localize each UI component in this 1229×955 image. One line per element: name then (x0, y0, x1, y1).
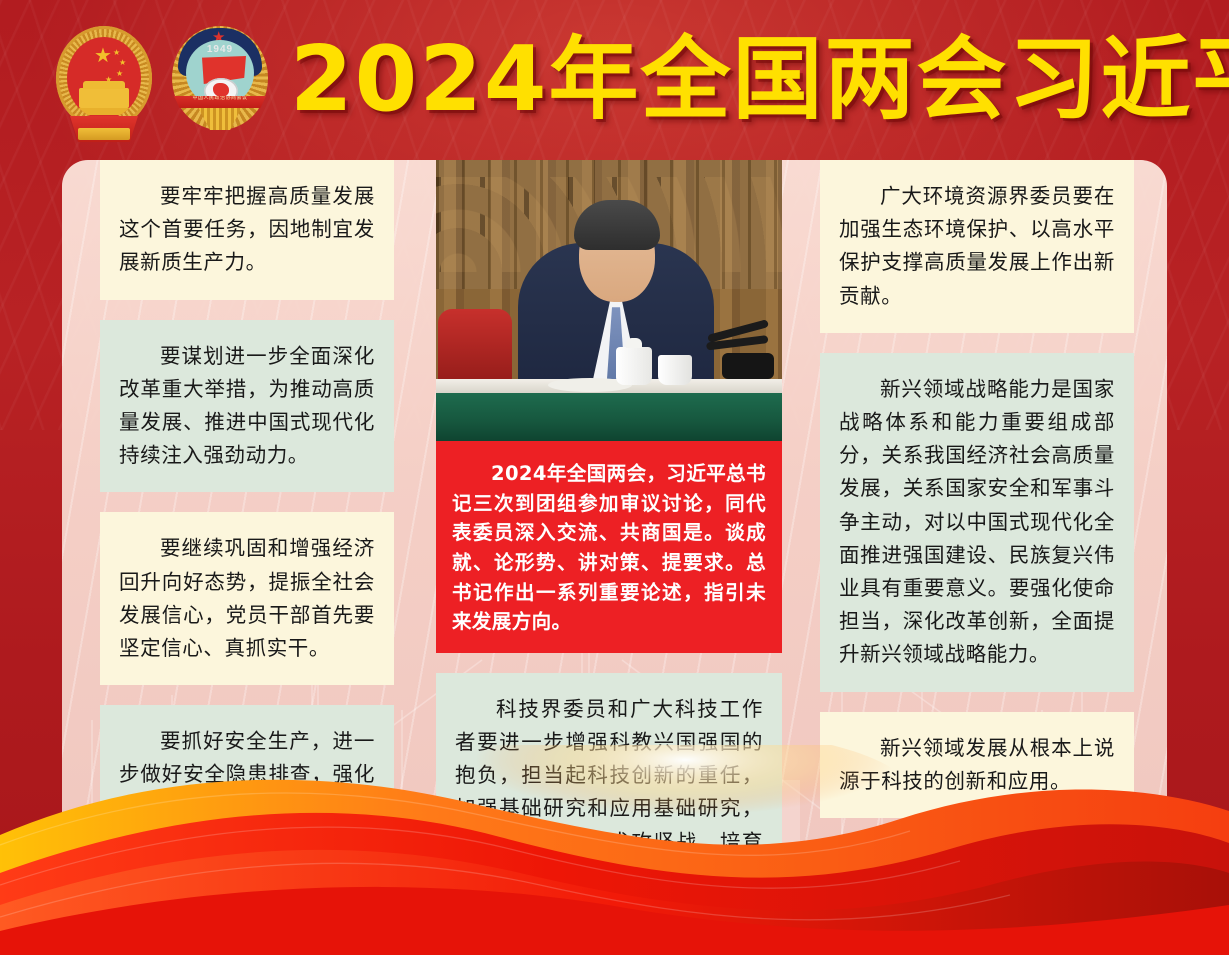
page-title: 2024年全国两会习近平讲话金句 (290, 35, 1229, 125)
cppcc-emblem-icon: ★ 1949 中国人民政治协商会议 (164, 20, 276, 140)
xi-jinping-meeting-photo (436, 160, 782, 441)
quote-card: 广大环境资源界委员要在加强生态环境保护、以高水平保护支撑高质量发展上作出新贡献。 (820, 160, 1134, 333)
poster-root: ★ ★ ★ ★ ★ ★ 1949 (0, 0, 1229, 955)
quote-card: 要继续巩固和增强经济回升向好态势，提振全社会发展信心，党员干部首先要坚定信心、真… (100, 512, 394, 685)
emblem-group: ★ ★ ★ ★ ★ ★ 1949 (48, 20, 276, 140)
cppcc-emblem-year: 1949 (186, 44, 254, 55)
quote-card: 要牢牢把握高质量发展这个首要任务，因地制宜发展新质生产力。 (100, 160, 394, 300)
column-right: 广大环境资源界委员要在加强生态环境保护、以高水平保护支撑高质量发展上作出新贡献。… (820, 160, 1134, 818)
poster-header: ★ ★ ★ ★ ★ ★ 1949 (0, 0, 1229, 160)
silk-ribbon-decoration (0, 745, 1229, 955)
national-emblem-icon: ★ ★ ★ ★ ★ (48, 20, 160, 140)
photo-caption: 2024年全国两会，习近平总书记三次到团组参加审议讨论，同代表委员深入交流、共商… (436, 441, 782, 653)
quote-card: 新兴领域战略能力是国家战略体系和能力重要组成部分，关系我国经济社会高质量发展，关… (820, 353, 1134, 692)
quote-card: 要谋划进一步全面深化改革重大举措，为推动高质量发展、推进中国式现代化持续注入强劲… (100, 320, 394, 493)
